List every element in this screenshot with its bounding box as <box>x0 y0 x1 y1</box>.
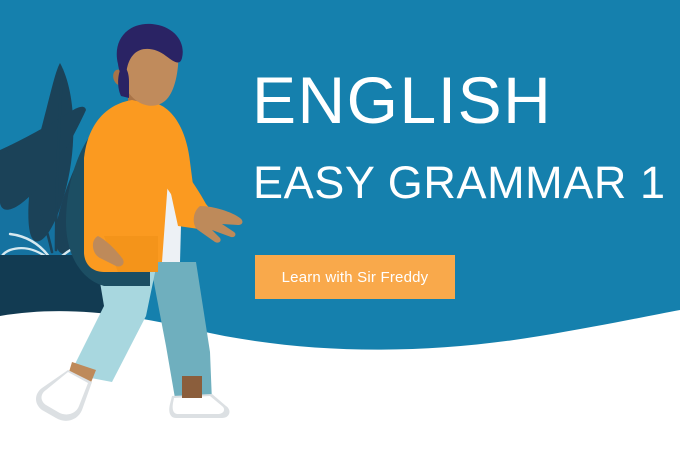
text-layer: ENGLISH EASY GRAMMAR 1 Learn with Sir Fr… <box>0 0 680 460</box>
page-subtitle: EASY GRAMMAR 1 <box>253 160 666 205</box>
promo-banner: ENGLISH EASY GRAMMAR 1 Learn with Sir Fr… <box>0 0 680 460</box>
learn-cta-button[interactable]: Learn with Sir Freddy <box>255 255 455 299</box>
page-title: ENGLISH <box>252 67 552 133</box>
